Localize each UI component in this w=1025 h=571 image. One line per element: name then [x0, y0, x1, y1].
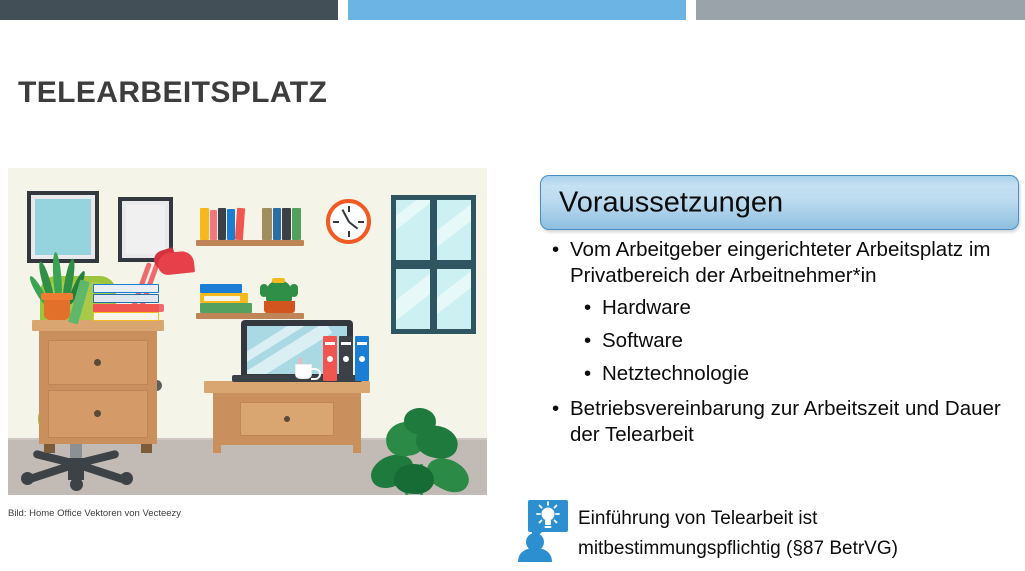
list-item: • Software — [546, 324, 1022, 357]
window-pane — [396, 269, 430, 329]
top-bar-dark — [0, 0, 338, 20]
page-title: TELEARBEITSPLATZ — [18, 76, 327, 110]
panel-header-label: Voraussetzungen — [559, 186, 783, 219]
ring-binder — [339, 336, 353, 381]
bullet-marker: • — [552, 396, 559, 422]
legal-note: Einführung von Telearbeit ist mitbestimm… — [516, 500, 1025, 566]
decorative-top-bars — [0, 0, 1025, 20]
bookshelf-upper-board — [196, 240, 304, 246]
bookshelf-lower-items — [200, 280, 304, 313]
requirements-list: • Vom Arbeitgeber eingerichteter Arbeits… — [546, 237, 1022, 450]
frame-artwork — [126, 205, 165, 254]
bullet-marker: • — [552, 237, 559, 263]
list-item: • Hardware — [546, 291, 1022, 324]
window-pane — [437, 200, 471, 260]
top-bar-blue — [348, 0, 686, 20]
list-item: • Betriebsvereinbarung zur Arbeitszeit u… — [546, 396, 1022, 448]
list-item-label: Betriebsvereinbarung zur Arbeitszeit und… — [570, 397, 1001, 446]
drawer-knob — [94, 410, 101, 417]
book-stack — [93, 284, 159, 321]
list-item: • Netztechnologie — [546, 357, 1022, 390]
list-item: • Vom Arbeitgeber eingerichteter Arbeits… — [546, 237, 1022, 289]
legal-note-label: Einführung von Telearbeit ist mitbestimm… — [578, 504, 1024, 564]
ring-binder — [355, 336, 369, 381]
panel-header-box: Voraussetzungen — [540, 175, 1019, 230]
list-item-label: Vom Arbeitgeber eingerichteter Arbeitspl… — [570, 238, 990, 287]
window — [391, 195, 476, 334]
frame-artwork — [35, 199, 91, 255]
image-caption: Bild: Home Office Vektoren von Vecteezy — [8, 508, 181, 519]
list-item-label: Hardware — [602, 296, 691, 319]
window-pane — [437, 269, 471, 329]
bullet-marker: • — [584, 324, 591, 357]
bookshelf-lower-board — [196, 313, 304, 319]
drawer-knob — [284, 416, 290, 422]
window-pane — [396, 200, 430, 260]
list-item-label: Netztechnologie — [602, 362, 749, 385]
ring-binder — [323, 336, 337, 381]
wall-clock — [326, 199, 371, 244]
home-office-illustration — [8, 168, 487, 495]
bookshelf-upper-books — [200, 208, 304, 240]
list-item-label: Software — [602, 329, 683, 352]
bullet-marker: • — [584, 291, 591, 324]
top-bar-gray — [696, 0, 1025, 20]
person-idea-bubble-icon — [516, 500, 572, 562]
bullet-marker: • — [584, 357, 591, 390]
drawer-knob — [94, 359, 101, 366]
picture-frame-blue — [27, 191, 99, 263]
